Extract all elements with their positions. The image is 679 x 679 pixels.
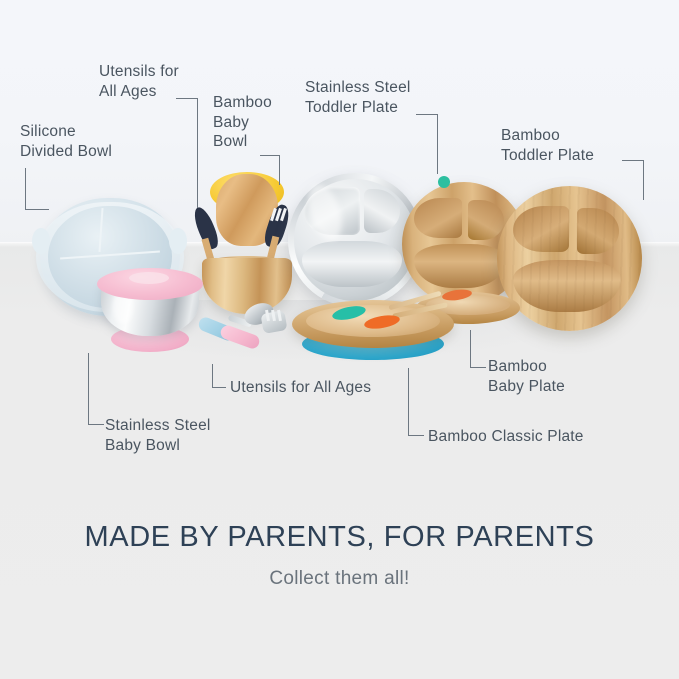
leader-utensils-all-ages-bottom xyxy=(212,364,230,390)
pink-lid-highlight xyxy=(129,272,169,284)
plate-compartment-3 xyxy=(302,241,402,287)
product-bamboo-baby-bowl xyxy=(196,172,300,317)
leader-bamboo-classic-plate xyxy=(408,368,428,438)
label-bamboo-baby-bowl: Bamboo Baby Bowl xyxy=(213,93,272,152)
product-stainless-steel-baby-bowl xyxy=(93,268,208,356)
product-bamboo-classic-plate xyxy=(292,300,454,362)
label-silicone-divided-bowl: Silicone Divided Bowl xyxy=(20,122,112,161)
leader-utensils-all-ages-top xyxy=(176,98,206,210)
label-stainless-steel-toddler-plate: Stainless Steel Toddler Plate xyxy=(305,78,411,117)
plate-compartment-3 xyxy=(414,244,506,288)
teal-accent xyxy=(438,176,450,188)
product-lineup-image: Silicone Divided Bowl Utensils for All A… xyxy=(0,0,679,679)
pink-fork-handle xyxy=(219,324,261,351)
label-stainless-steel-baby-bowl: Stainless Steel Baby Bowl xyxy=(105,416,211,455)
leader-silicone-divided-bowl xyxy=(25,168,55,212)
leader-stainless-steel-toddler-plate xyxy=(416,114,444,176)
leader-bamboo-toddler-plate xyxy=(622,160,650,202)
label-bamboo-baby-plate: Bamboo Baby Plate xyxy=(488,357,565,396)
leader-bamboo-baby-bowl xyxy=(260,155,286,187)
leader-bamboo-baby-plate xyxy=(470,330,490,370)
bowl-tab-right xyxy=(169,228,187,254)
plate-compartment-1 xyxy=(414,198,462,238)
label-bamboo-toddler-plate: Bamboo Toddler Plate xyxy=(501,126,594,165)
label-utensils-all-ages-bottom: Utensils for All Ages xyxy=(230,378,371,398)
footer-headline: MADE BY PARENTS, FOR PARENTS xyxy=(0,521,679,554)
label-bamboo-classic-plate: Bamboo Classic Plate xyxy=(428,427,584,447)
bowl-tab-left xyxy=(32,228,50,254)
label-utensils-all-ages-top: Utensils for All Ages xyxy=(99,62,179,101)
footer-subhead: Collect them all! xyxy=(0,568,679,590)
leader-stainless-steel-baby-bowl xyxy=(88,353,108,427)
product-steel-utensils xyxy=(196,300,304,358)
